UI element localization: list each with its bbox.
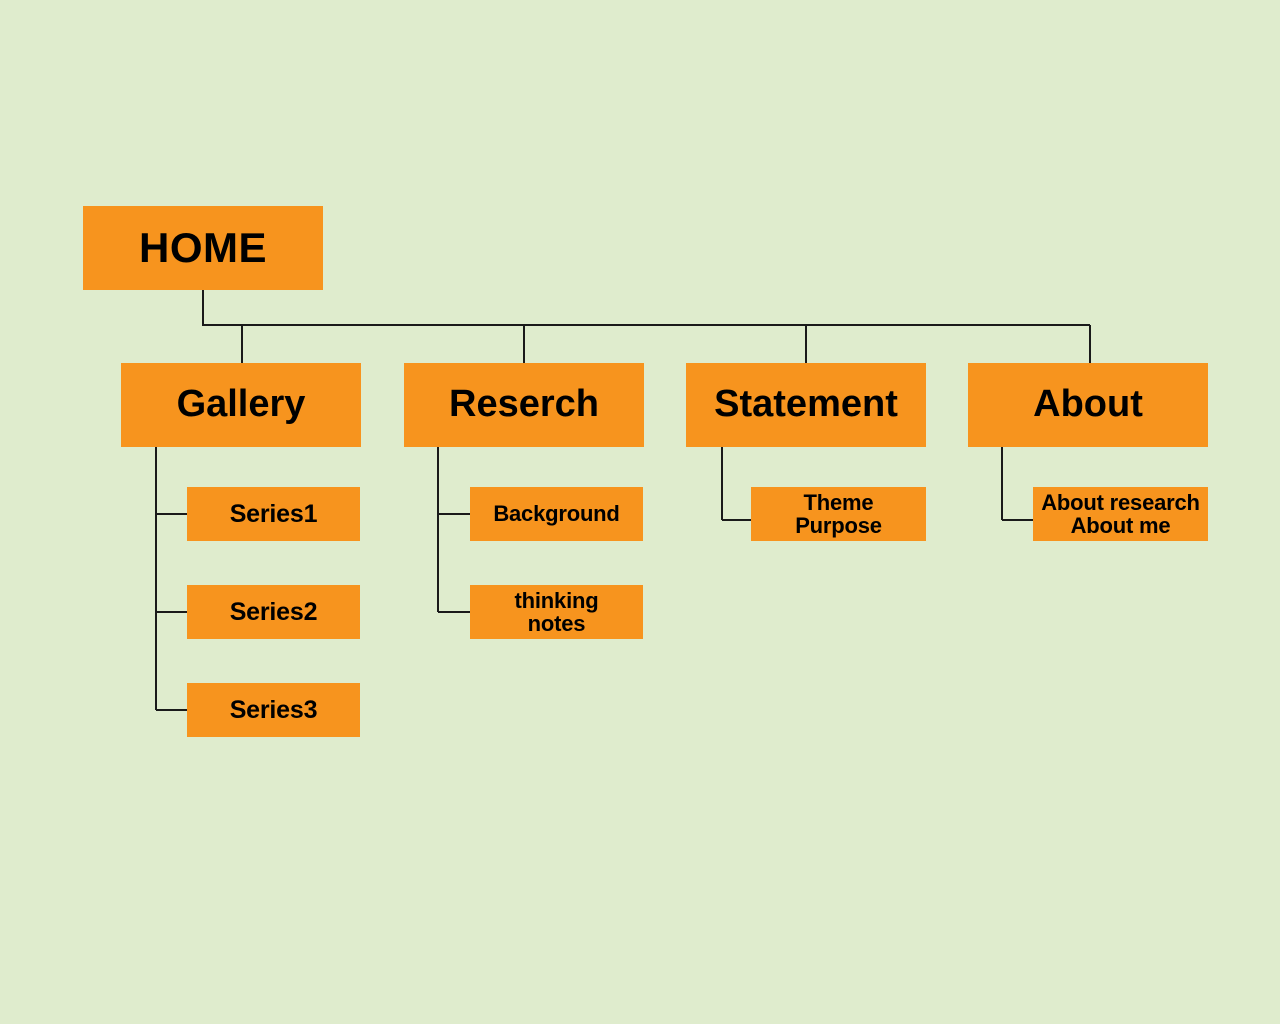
node-series2[interactable]: Series2 [187,585,360,639]
node-thinking-notes-line2: notes [470,612,643,635]
node-series3[interactable]: Series3 [187,683,360,737]
node-gallery[interactable]: Gallery [121,363,361,447]
node-series3-label: Series3 [187,697,360,723]
node-home-label: HOME [83,226,323,270]
sitemap-canvas: HOME Gallery Reserch Statement About Ser… [0,0,1280,1024]
node-thinking-notes[interactable]: thinking notes [470,585,643,639]
node-thinking-notes-label: thinking notes [470,589,643,635]
node-background[interactable]: Background [470,487,643,541]
node-reserch-label: Reserch [404,385,644,425]
node-series1-label: Series1 [187,501,360,527]
node-about-children[interactable]: About research About me [1033,487,1208,541]
node-theme-purpose-label: Theme Purpose [751,491,926,537]
node-statement-label: Statement [686,385,926,425]
node-gallery-label: Gallery [121,385,361,425]
node-about[interactable]: About [968,363,1208,447]
node-theme-purpose-line1: Theme [804,490,874,515]
node-series2-label: Series2 [187,599,360,625]
node-home[interactable]: HOME [83,206,323,290]
node-about-children-line1: About research [1041,490,1200,515]
node-series1[interactable]: Series1 [187,487,360,541]
node-statement[interactable]: Statement [686,363,926,447]
node-theme-purpose[interactable]: Theme Purpose [751,487,926,541]
node-about-children-label: About research About me [1033,491,1208,537]
node-reserch[interactable]: Reserch [404,363,644,447]
node-thinking-notes-line1: thinking [515,588,599,613]
node-theme-purpose-line2: Purpose [751,514,926,537]
node-about-label: About [968,385,1208,425]
node-about-children-line2: About me [1033,514,1208,537]
node-background-label: Background [470,502,643,525]
